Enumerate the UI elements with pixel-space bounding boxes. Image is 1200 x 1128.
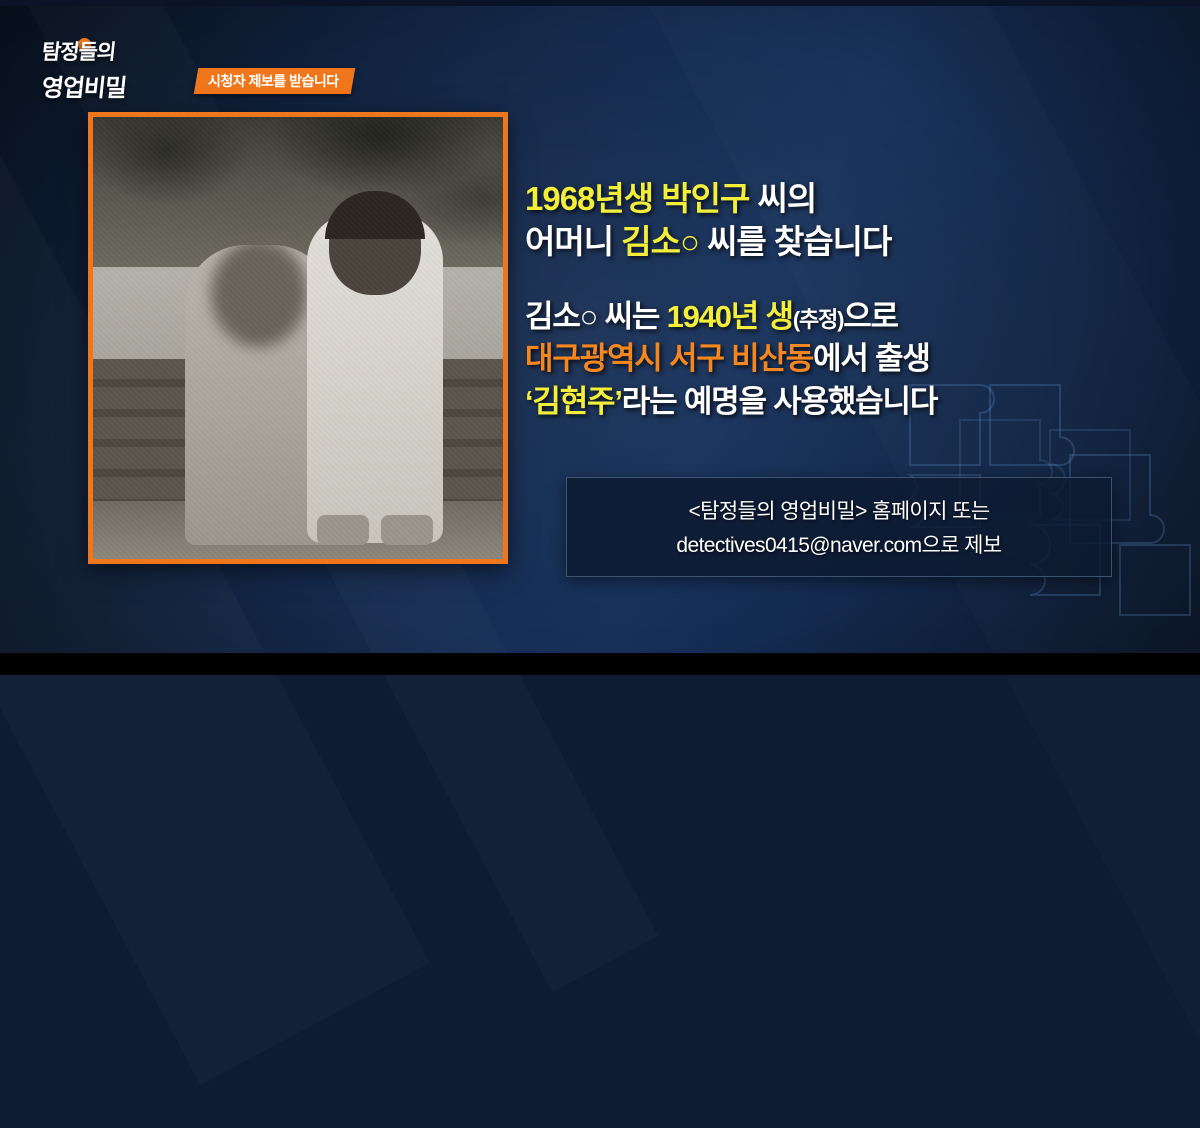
program-logo: 탐정들의 영업비밀 xyxy=(42,36,202,96)
body-line-1-highlight: 1940년 생 xyxy=(667,299,793,334)
body-line-3-highlight: ‘김현주’ xyxy=(525,384,622,419)
logo-line-1: 탐정들의 xyxy=(40,36,203,66)
photo-frame xyxy=(88,112,508,564)
body-line-1-prefix: 김소○ 씨는 xyxy=(525,299,667,334)
headline-line-2-suffix: 씨를 찾습니다 xyxy=(699,223,892,260)
photo-film-grain xyxy=(93,117,503,559)
viewer-tip-ribbon: 시청자 제보를 받습니다 xyxy=(194,68,355,94)
body-line-2: 대구광역시 서구 비산동에서 출생 xyxy=(525,338,1175,380)
headline-line-1: 1968년생 박인구 씨의 xyxy=(525,178,1165,221)
body-line-3: ‘김현주’라는 예명을 사용했습니다 xyxy=(525,381,1175,423)
body-line-1-suffix: 으로 xyxy=(843,299,898,334)
contact-info-panel: <탐정들의 영업비밀> 홈페이지 또는 detectives0415@naver… xyxy=(566,477,1112,577)
body-line-2-highlight: 대구광역시 서구 비산동 xyxy=(525,341,813,376)
headline-line-2: 어머니 김소○ 씨를 찾습니다 xyxy=(525,221,1165,264)
body-line-1-note: (추정) xyxy=(793,307,843,332)
viewer-tip-ribbon-label: 시청자 제보를 받습니다 xyxy=(208,71,339,91)
headline-line-2-highlight: 김소○ xyxy=(621,223,699,260)
top-letterbox xyxy=(0,0,1200,6)
logo-line-2: 영업비밀 xyxy=(40,68,204,103)
headline-line-1-rest: 씨의 xyxy=(749,180,816,217)
body-line-1: 김소○ 씨는 1940년 생(추정)으로 xyxy=(525,296,1175,338)
bottom-letterbox xyxy=(0,653,1200,675)
body-line-3-suffix: 라는 예명을 사용했습니다 xyxy=(622,384,937,419)
contact-info-line-1: <탐정들의 영업비밀> 홈페이지 또는 xyxy=(688,495,989,525)
body-text: 김소○ 씨는 1940년 생(추정)으로 대구광역시 서구 비산동에서 출생 ‘… xyxy=(525,296,1175,423)
headline-line-2-prefix: 어머니 xyxy=(525,223,621,260)
headline-line-1-highlight: 1968년생 박인구 xyxy=(525,180,749,217)
body-line-2-suffix: 에서 출생 xyxy=(813,341,930,376)
photo-image xyxy=(93,117,503,559)
contact-info-line-2: detectives0415@naver.com으로 제보 xyxy=(676,529,1001,559)
headline-text: 1968년생 박인구 씨의 어머니 김소○ 씨를 찾습니다 xyxy=(525,178,1165,264)
